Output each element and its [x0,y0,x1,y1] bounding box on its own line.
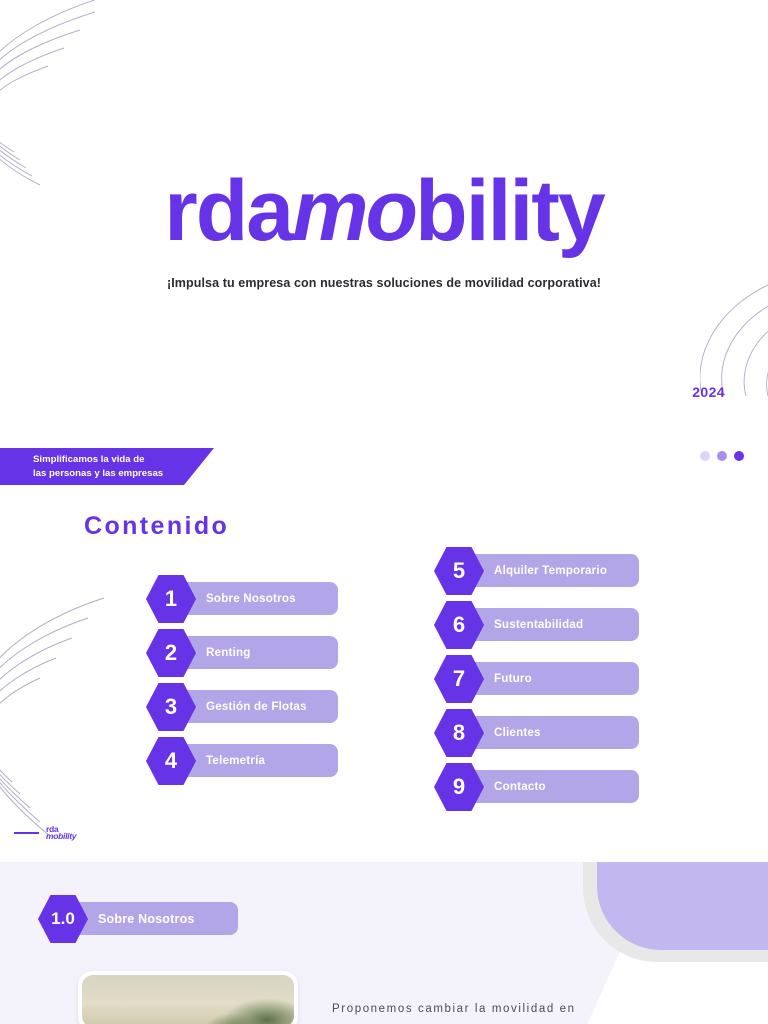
toc-item-7[interactable]: 7 Futuro [434,654,639,704]
logo-suffix: bility [415,163,604,259]
decorative-blob [597,862,768,950]
brand-logo: rdamobility [0,168,768,254]
slogan-line-1: Simplificamos la vida de [33,453,214,467]
toc-label-5: Alquiler Temporario [472,554,639,587]
progress-dot-2[interactable] [717,451,727,461]
toc-label-1: Sobre Nosotros [184,582,338,615]
footer-rule [14,832,39,834]
toc-item-6[interactable]: 6 Sustentabilidad [434,600,639,650]
section-photo [82,975,294,1024]
progress-dot-3[interactable] [734,451,744,461]
toc-label-9: Contacto [472,770,639,803]
footer-logo-bottom: mobility [46,833,76,840]
toc-column-right: 5 Alquiler Temporario 6 Sustentabilidad … [434,546,639,816]
toc-column-left: 1 Sobre Nosotros 2 Renting 3 Gestión de … [146,574,338,790]
slogan-line-2: las personas y las empresas [33,467,214,481]
contour-lines-top-left [0,0,140,190]
toc-label-8: Clientes [472,716,639,749]
cover-year: 2024 [692,384,725,400]
section-title: Sobre Nosotros [76,902,238,935]
toc-item-8[interactable]: 8 Clientes [434,708,639,758]
cover-tagline: ¡Impulsa tu empresa con nuestras solucio… [0,276,768,290]
progress-dot-1[interactable] [700,451,710,461]
toc-label-2: Renting [184,636,338,669]
footer-brand-mark: rda mobility [14,826,76,840]
logo-prefix: rda [164,163,292,259]
section-photo-frame [78,971,298,1024]
toc-label-6: Sustentabilidad [472,608,639,641]
toc-item-3[interactable]: 3 Gestión de Flotas [146,682,338,732]
toc-label-4: Telemetría [184,744,338,777]
slide-progress-dots[interactable] [700,451,744,461]
toc-item-5[interactable]: 5 Alquiler Temporario [434,546,639,596]
toc-item-1[interactable]: 1 Sobre Nosotros [146,574,338,624]
section-body-text: Proponemos cambiar la movilidad en [332,1003,576,1015]
logo-italic-part: mo [292,163,415,259]
footer-logo-text: rda mobility [46,826,76,840]
toc-item-4[interactable]: 4 Telemetría [146,736,338,786]
section-page: 1.0 Sobre Nosotros [0,862,768,1024]
toc-item-2[interactable]: 2 Renting [146,628,338,678]
toc-item-9[interactable]: 9 Contacto [434,762,639,812]
cover-page: rdamobility ¡Impulsa tu empresa con nues… [0,0,768,862]
contour-lines-bottom-left [0,596,138,846]
toc-label-3: Gestión de Flotas [184,690,338,723]
slogan-banner: Simplificamos la vida de las personas y … [0,448,214,485]
contents-heading: Contenido [84,512,229,541]
section-badge[interactable]: 1.0 Sobre Nosotros [38,894,238,944]
toc-label-7: Futuro [472,662,639,695]
